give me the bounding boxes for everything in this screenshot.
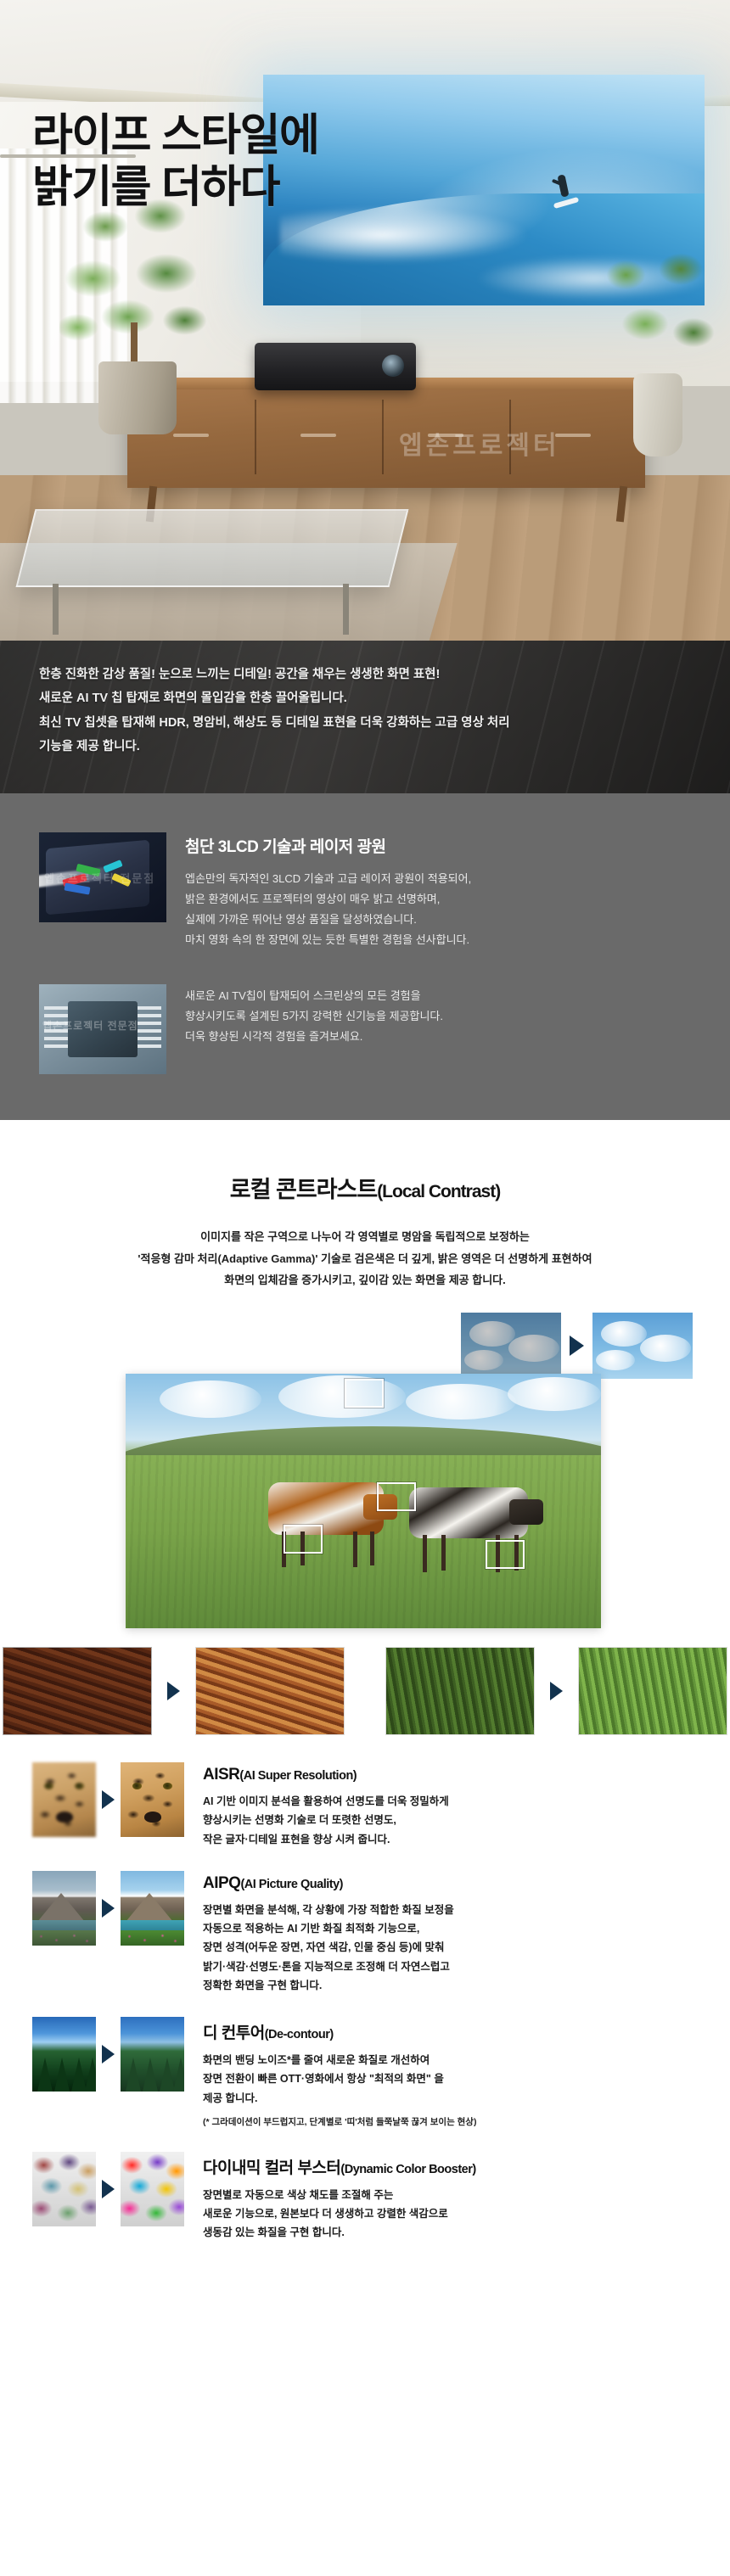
aipq-line-3: 장면 성격(어두운 장면, 자연 색감, 인물 중심 등)에 맞춰: [203, 1938, 705, 1957]
mountain-lake-dull-image: [32, 1871, 96, 1946]
decontour-footnote: (* 그라데이션이 부드럽지고, 단계별로 '띠'처럼 들쭉날쭉 끊겨 보이는 …: [203, 2115, 705, 2130]
local-contrast-section: 로컬 콘트라스트(Local Contrast) 이미지를 작은 구역으로 나누…: [0, 1120, 730, 1669]
projector-device: [255, 343, 416, 390]
aipq-heading-ko: AIPQ: [203, 1874, 240, 1892]
feature-3lcd: 엡손프로젝터 전문점 첨단 3LCD 기술과 레이저 광원 엡손만의 독자적인 …: [0, 832, 730, 950]
aisr-heading-ko: AISR: [203, 1766, 239, 1784]
hero-banner: 라이프 스타일에 밝기를 더하다 엡손프로젝터: [0, 0, 730, 641]
feature-3lcd-body: 엡손만의 독자적인 3LCD 기술과 고급 레이저 광원이 적용되어, 밝은 환…: [185, 869, 693, 950]
decontour-line-2: 장면 전환이 빠른 OTT·영화에서 항상 "최적의 화면" 을: [203, 2069, 705, 2088]
feature-ai-chip: 엡손프로젝터 전문점 새로운 AI TV칩이 탑재되어 스크린상의 모든 경험을…: [0, 984, 730, 1074]
potted-plant-right: [594, 246, 722, 458]
product-page: 라이프 스타일에 밝기를 더하다 엡손프로젝터 한층 진화한 감상 품질! 눈으…: [0, 0, 730, 2280]
local-contrast-title-en: (Local Contrast): [377, 1182, 500, 1201]
decontour-heading-ko: 디 컨투어: [203, 2024, 265, 2042]
feature-3lcd-line-4: 마치 영화 속의 한 장면에 있는 듯한 특별한 경험을 선사합니다.: [185, 930, 693, 950]
decontour-line-3: 제공 합니다.: [203, 2089, 705, 2108]
aipq-heading-en: (AI Picture Quality): [240, 1878, 343, 1891]
aipq-image-pair: [32, 1871, 184, 1946]
leopard-blurred-image: [32, 1762, 96, 1837]
forest-banding-image: [32, 2017, 96, 2092]
intro-line-2: 새로운 AI TV 칩 탑재로 화면의 몰입감을 한층 끌어올립니다.: [39, 686, 730, 710]
leopard-sharp-image: [121, 1762, 184, 1837]
local-contrast-title-ko: 로컬 콘트라스트: [230, 1177, 377, 1202]
local-contrast-title: 로컬 콘트라스트(Local Contrast): [0, 1171, 730, 1204]
lens-icon: [382, 355, 404, 377]
ai-feature-aipq: AIPQ(AI Picture Quality) 장면별 화면을 분석해, 각 …: [0, 1871, 730, 1995]
decontour-line-1: 화면의 밴딩 노이즈*를 줄여 새로운 화질로 개선하여: [203, 2051, 705, 2069]
arrow-right-icon: [570, 1336, 584, 1356]
feature-3lcd-line-2: 밝은 환경에서도 프로젝터의 영상이 매우 밝고 선명하며,: [185, 889, 693, 910]
ai-feature-aisr: AISR(AI Super Resolution) AI 기반 이미지 분석을 …: [0, 1762, 730, 1849]
dcb-heading-en: (Dynamic Color Booster): [340, 2163, 475, 2176]
fur-after-image: [195, 1647, 345, 1735]
ai-feature-dynamic-color-booster: 다이내믹 컬러 부스터(Dynamic Color Booster) 장면별로 …: [0, 2152, 730, 2243]
sky-comparison-pair: [461, 1313, 693, 1379]
sky-before-image: [461, 1313, 561, 1379]
crop-marker-sky: [345, 1379, 384, 1408]
aisr-line-2: 향상시키는 선명화 기술로 더 또렷한 선명도,: [203, 1811, 705, 1829]
feature-3lcd-heading: 첨단 3LCD 기술과 레이저 광원: [185, 834, 693, 857]
aisr-heading: AISR(AI Super Resolution): [203, 1766, 705, 1784]
decontour-heading: 디 컨투어(De-contour): [203, 2020, 705, 2043]
decontour-image-pair: [32, 2017, 184, 2092]
decontour-heading-en: (De-contour): [265, 2028, 334, 2041]
feature-3lcd-line-1: 엡손만의 독자적인 3LCD 기술과 고급 레이저 광원이 적용되어,: [185, 869, 693, 889]
feature-3lcd-line-3: 실제에 가까운 뛰어난 영상 품질을 달성하였습니다.: [185, 910, 693, 930]
cows-in-pasture-photo: [126, 1374, 601, 1628]
hero-title-line2: 밝기를 더하다: [32, 162, 318, 214]
sky-after-image: [592, 1313, 693, 1379]
feature-ai-chip-line-3: 더욱 향상된 시각적 경험을 즐겨보세요.: [185, 1027, 693, 1047]
feature-ai-chip-line-1: 새로운 AI TV칩이 탑재되어 스크린상의 모든 경험을: [185, 986, 693, 1006]
umbrellas-vivid-image: [121, 2152, 184, 2226]
aisr-heading-en: (AI Super Resolution): [239, 1769, 357, 1783]
mountain-lake-enhanced-image: [121, 1871, 184, 1946]
arrow-right-icon: [102, 1790, 115, 1809]
dcb-line-2: 새로운 기능으로, 원본보다 더 생생하고 강렬한 색감으로: [203, 2204, 705, 2223]
thumb-watermark: 엡손프로젝터 전문점: [44, 870, 155, 886]
feature-ai-chip-line-2: 향상시키도록 설계된 5가지 강력한 신기능을 제공합니다.: [185, 1006, 693, 1027]
forest-smooth-image: [121, 2017, 184, 2092]
grass-after-image: [578, 1647, 727, 1735]
crop-marker-grass: [486, 1540, 525, 1569]
dcb-heading: 다이내믹 컬러 부스터(Dynamic Color Booster): [203, 2155, 705, 2178]
arrow-right-icon: [102, 2180, 115, 2198]
hero-living-room-photo: [0, 0, 730, 641]
dcb-line-1: 장면별로 자동으로 색상 채도를 조절해 주는: [203, 2186, 705, 2204]
crop-marker-fur: [284, 1525, 323, 1554]
ai-features-section: AISR(AI Super Resolution) AI 기반 이미지 분석을 …: [0, 1728, 730, 2279]
aipq-heading: AIPQ(AI Picture Quality): [203, 1874, 705, 1893]
decontour-body: 화면의 밴딩 노이즈*를 줄여 새로운 화질로 개선하여 장면 전환이 빠른 O…: [203, 2051, 705, 2108]
hero-title-line1: 라이프 스타일에: [32, 111, 318, 160]
aipq-line-4: 밝기·색감·선명도·톤을 지능적으로 조정해 더 자연스럽고: [203, 1957, 705, 1976]
local-contrast-desc-line-3: 화면의 입체감을 증가시키고, 깊이감 있는 화면을 제공 합니다.: [0, 1269, 730, 1291]
dcb-body: 장면별로 자동으로 색상 채도를 조절해 주는 새로운 기능으로, 원본보다 더…: [203, 2186, 705, 2243]
feature-ai-chip-body: 새로운 AI TV칩이 탑재되어 스크린상의 모든 경험을 향상시키도록 설계된…: [185, 986, 693, 1047]
aipq-body: 장면별 화면을 분석해, 각 상황에 가장 적합한 화질 보정을 자동으로 적용…: [203, 1901, 705, 1995]
gray-feature-section: 엡손프로젝터 전문점 첨단 3LCD 기술과 레이저 광원 엡손만의 독자적인 …: [0, 793, 730, 1120]
aipq-line-2: 자동으로 적용하는 AI 기반 화질 최적화 기능으로,: [203, 1919, 705, 1938]
dcb-line-3: 생동감 있는 화질을 구현 합니다.: [203, 2223, 705, 2242]
intro-strip: 한층 진화한 감상 품질! 눈으로 느끼는 디테일! 공간을 채우는 생생한 화…: [0, 641, 730, 793]
arrow-right-icon: [102, 2045, 115, 2064]
dcb-heading-ko: 다이내믹 컬러 부스터: [203, 2159, 340, 2177]
local-contrast-stage: [0, 1313, 730, 1669]
arrow-right-icon: [550, 1682, 563, 1700]
intro-line-1: 한층 진화한 감상 품질! 눈으로 느끼는 디테일! 공간을 채우는 생생한 화…: [39, 663, 730, 686]
surfer-icon: [553, 175, 576, 219]
ai-feature-decontour: 디 컨투어(De-contour) 화면의 밴딩 노이즈*를 줄여 새로운 화질…: [0, 2017, 730, 2130]
arrow-right-icon: [102, 1899, 115, 1918]
ai-chip-icon: 엡손프로젝터 전문점: [39, 984, 166, 1074]
intro-line-4: 기능을 제공 합니다.: [39, 735, 730, 759]
crop-comparison-row: [0, 1635, 730, 1735]
hero-title: 라이프 스타일에 밝기를 더하다: [32, 110, 318, 215]
intro-line-3: 최신 TV 칩셋을 탑재해 HDR, 명암비, 해상도 등 디테일 표현을 더욱…: [39, 711, 730, 735]
cow-brown: [253, 1476, 397, 1569]
hero-watermark: 엡손프로젝터: [399, 424, 560, 462]
aipq-line-1: 장면별 화면을 분석해, 각 상황에 가장 적합한 화질 보정을: [203, 1901, 705, 1919]
fur-before-image: [3, 1647, 152, 1735]
local-contrast-desc-line-2: '적응형 감마 처리(Adaptive Gamma)' 기술로 검은색은 더 깊…: [0, 1248, 730, 1269]
intro-paragraph: 한층 진화한 감상 품질! 눈으로 느끼는 디테일! 공간을 채우는 생생한 화…: [0, 641, 730, 759]
potted-plant-left: [59, 195, 212, 433]
aisr-body: AI 기반 이미지 분석을 활용하여 선명도를 더욱 정밀하게 향상시키는 선명…: [203, 1792, 705, 1849]
aisr-line-1: AI 기반 이미지 분석을 활용하여 선명도를 더욱 정밀하게: [203, 1792, 705, 1811]
aisr-image-pair: [32, 1762, 184, 1837]
crop-marker-cow-face: [377, 1482, 416, 1511]
projector-beam-icon: 엡손프로젝터 전문점: [39, 832, 166, 922]
grass-before-image: [385, 1647, 535, 1735]
umbrellas-muted-image: [32, 2152, 96, 2226]
aipq-line-5: 정확한 화면을 구현 합니다.: [203, 1976, 705, 1995]
arrow-right-icon: [167, 1682, 180, 1700]
dcb-image-pair: [32, 2152, 184, 2226]
glass-coffee-table: [16, 509, 409, 587]
local-contrast-desc-line-1: 이미지를 작은 구역으로 나누어 각 영역별로 명암을 독립적으로 보정하는: [0, 1226, 730, 1247]
thumb-watermark: 엡손프로젝터 전문점: [42, 1018, 138, 1033]
local-contrast-description: 이미지를 작은 구역으로 나누어 각 영역별로 명암을 독립적으로 보정하는 '…: [0, 1226, 730, 1291]
aisr-line-3: 작은 글자·디테일 표현을 향상 시켜 줍니다.: [203, 1830, 705, 1849]
